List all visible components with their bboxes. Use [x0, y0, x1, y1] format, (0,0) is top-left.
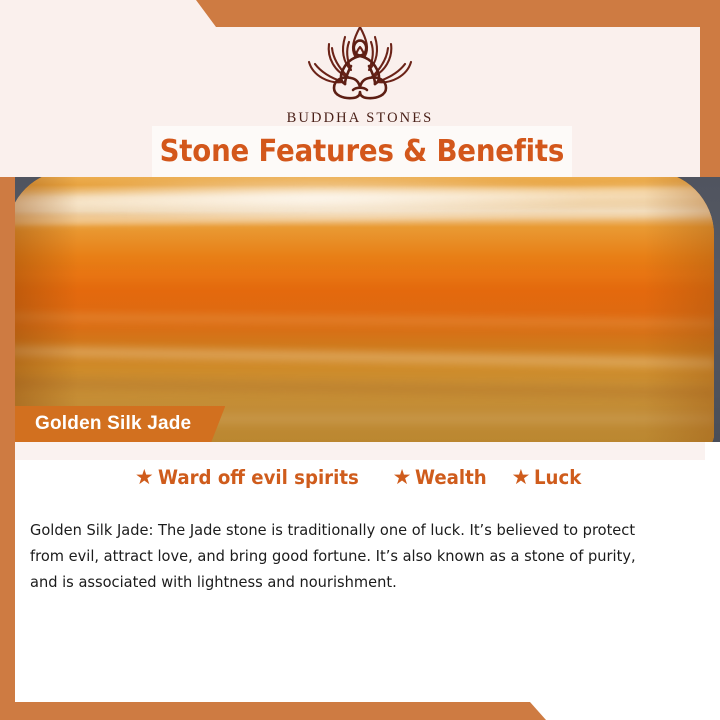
panel-top-accent: [15, 442, 705, 460]
stone-photo: Golden Silk Jade: [0, 177, 720, 442]
stone-shadow-right: [644, 177, 714, 442]
stone-description: Golden Silk Jade: The Jade stone is trad…: [30, 517, 665, 595]
benefit-item-ward-off-evil-spirits: ★ Ward off evil spirits: [135, 466, 374, 489]
benefit-item-luck: ★ Luck: [511, 466, 585, 489]
stone-name-ribbon: Golden Silk Jade: [15, 406, 225, 442]
star-icon: ★: [135, 467, 154, 488]
decor-band-right: [700, 27, 720, 177]
product-feature-poster: BUDDHA STONES Stone Features & Benefits …: [0, 0, 720, 720]
benefit-label: Wealth: [415, 466, 487, 489]
decor-band-left: [0, 177, 15, 703]
benefit-label: Luck: [534, 466, 581, 489]
stone-highlight: [38, 177, 598, 221]
benefit-item-wealth: ★ Wealth: [393, 466, 493, 489]
stone-vein: [8, 267, 714, 283]
benefits-list: ★ Ward off evil spirits ★ Wealth ★ Luck: [15, 466, 705, 489]
jade-stone-image: [8, 177, 714, 442]
star-icon: ★: [393, 467, 412, 488]
stone-name-label: Golden Silk Jade: [35, 413, 191, 435]
star-icon: ★: [511, 467, 530, 488]
stone-shadow-left: [8, 177, 78, 442]
page-title-banner: Stone Features & Benefits: [152, 126, 572, 177]
brand-logo: BUDDHA STONES: [0, 22, 720, 127]
lotus-meditation-icon: [285, 22, 435, 108]
brand-wordmark: BUDDHA STONES: [0, 110, 720, 127]
page-title: Stone Features & Benefits: [160, 134, 565, 169]
content-panel: ★ Ward off evil spirits ★ Wealth ★ Luck …: [15, 442, 705, 703]
decor-band-bottom: [0, 702, 720, 720]
benefit-label: Ward off evil spirits: [158, 466, 359, 489]
